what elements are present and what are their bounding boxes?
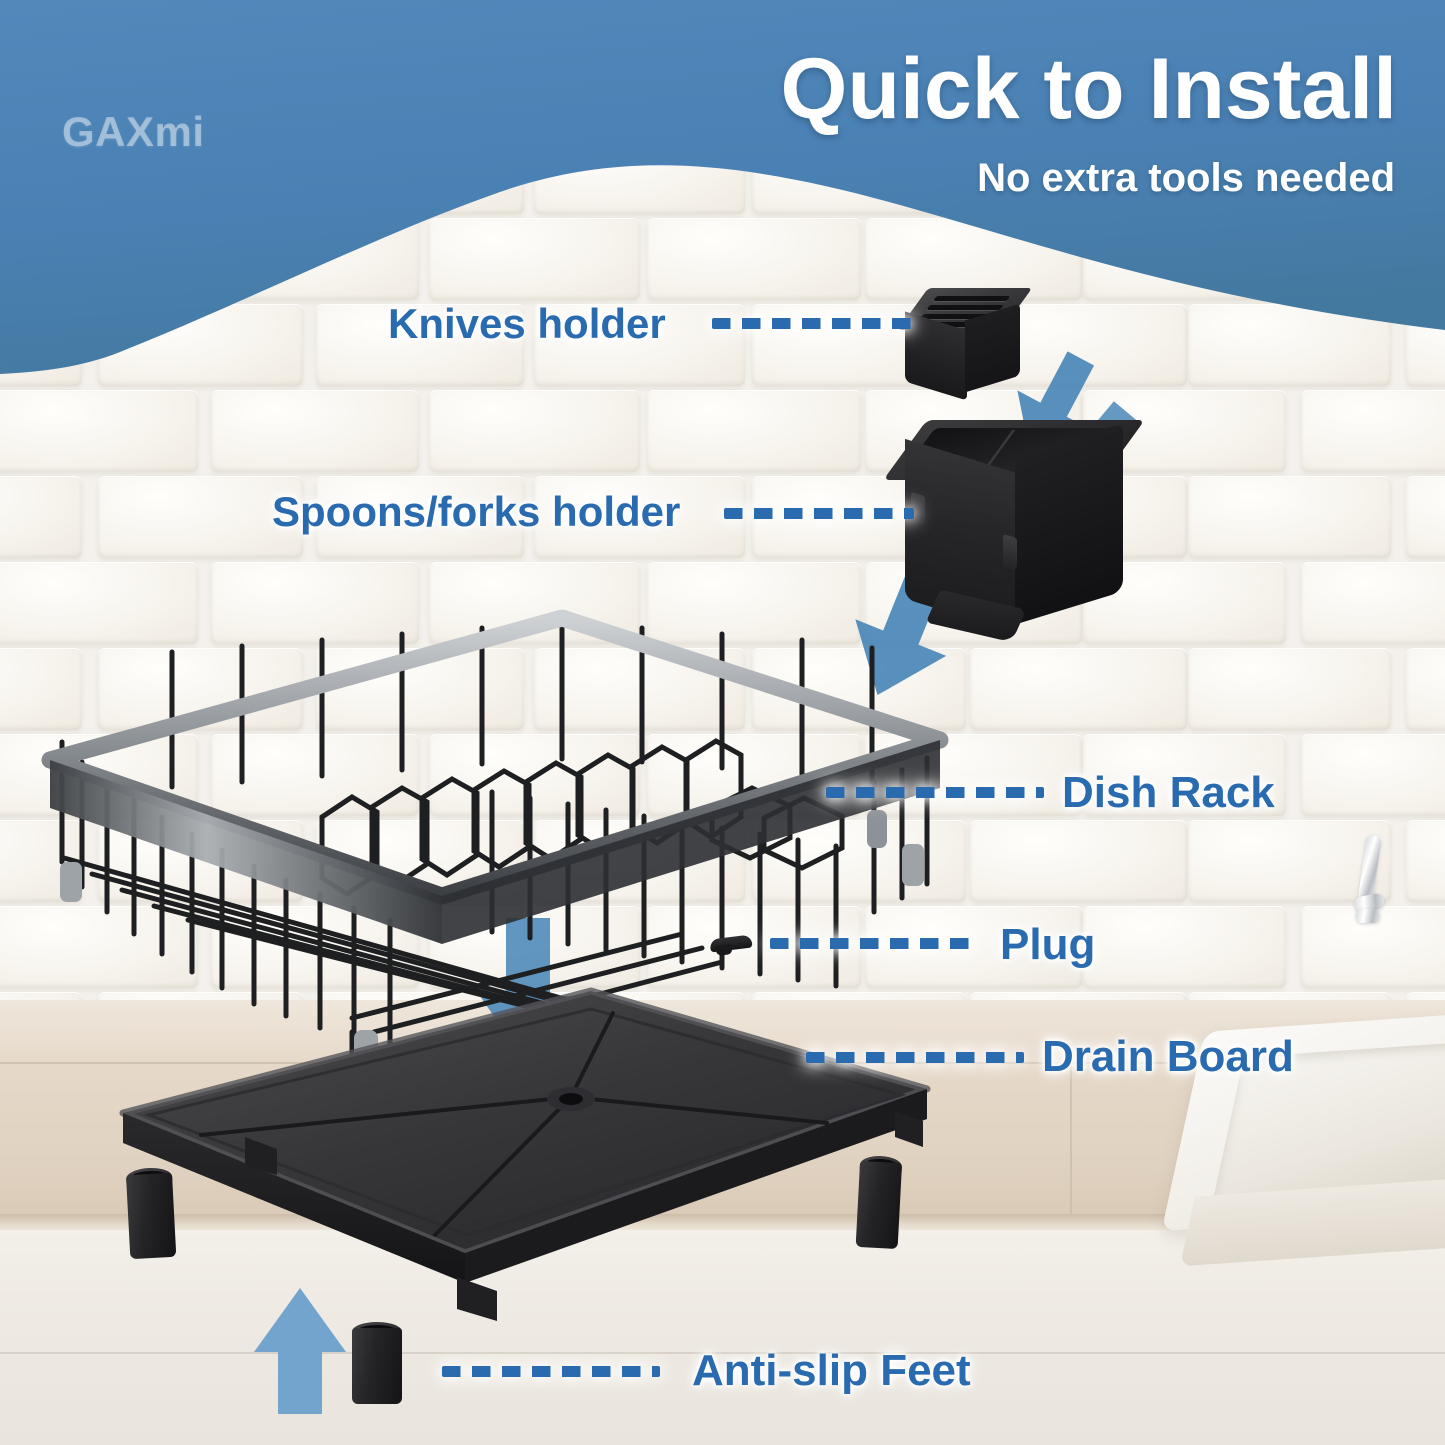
brick bbox=[970, 648, 1187, 730]
brick-course bbox=[0, 390, 1445, 476]
anti-slip-foot bbox=[126, 1167, 177, 1259]
callout-label-anti-slip-feet: Anti-slip Feet bbox=[692, 1346, 971, 1396]
brick bbox=[970, 820, 1187, 902]
anti-slip-foot bbox=[352, 1322, 402, 1404]
brick bbox=[1301, 562, 1445, 644]
brick bbox=[211, 390, 419, 472]
callout-label-spoons-forks-holder: Spoons/forks holder bbox=[272, 488, 680, 536]
brick bbox=[1083, 906, 1286, 988]
faucet-icon bbox=[1352, 835, 1386, 935]
brick bbox=[1406, 648, 1445, 730]
leader-line-drain-board bbox=[806, 1052, 1024, 1063]
leader-line-dish-rack bbox=[826, 787, 1044, 798]
leader-line-anti-slip-feet bbox=[442, 1366, 660, 1377]
product-infographic: GAXmi Quick to Install No extra tools ne… bbox=[0, 0, 1445, 1445]
brick bbox=[1301, 390, 1445, 472]
brick-course bbox=[0, 476, 1445, 562]
callout-label-plug: Plug bbox=[1000, 920, 1095, 970]
brick bbox=[1406, 476, 1445, 558]
leader-line-spoons-forks-holder bbox=[724, 508, 914, 519]
callout-label-drain-board: Drain Board bbox=[1042, 1032, 1294, 1082]
caddy-hook bbox=[1003, 534, 1017, 572]
brick bbox=[1188, 648, 1391, 730]
leader-line-knives-holder bbox=[712, 318, 912, 329]
page-title: Quick to Install bbox=[781, 46, 1397, 132]
spoons-forks-holder-part bbox=[905, 420, 1135, 650]
callout-label-dish-rack: Dish Rack bbox=[1062, 768, 1275, 818]
brick bbox=[0, 476, 82, 558]
brick bbox=[0, 390, 198, 472]
brick bbox=[429, 390, 640, 472]
brick bbox=[1188, 476, 1391, 558]
brand-logo: GAXmi bbox=[62, 108, 205, 156]
leader-line-plug bbox=[770, 938, 978, 949]
drain-board-product bbox=[105, 985, 945, 1315]
anti-slip-foot bbox=[856, 1155, 903, 1249]
brick bbox=[647, 390, 861, 472]
brick bbox=[1301, 734, 1445, 816]
tile-seam bbox=[1070, 1062, 1072, 1214]
callout-label-knives-holder: Knives holder bbox=[388, 300, 666, 348]
brick bbox=[1406, 820, 1445, 902]
knives-holder-part bbox=[905, 288, 1027, 396]
page-subtitle: No extra tools needed bbox=[977, 158, 1395, 198]
plug-part bbox=[710, 934, 752, 956]
